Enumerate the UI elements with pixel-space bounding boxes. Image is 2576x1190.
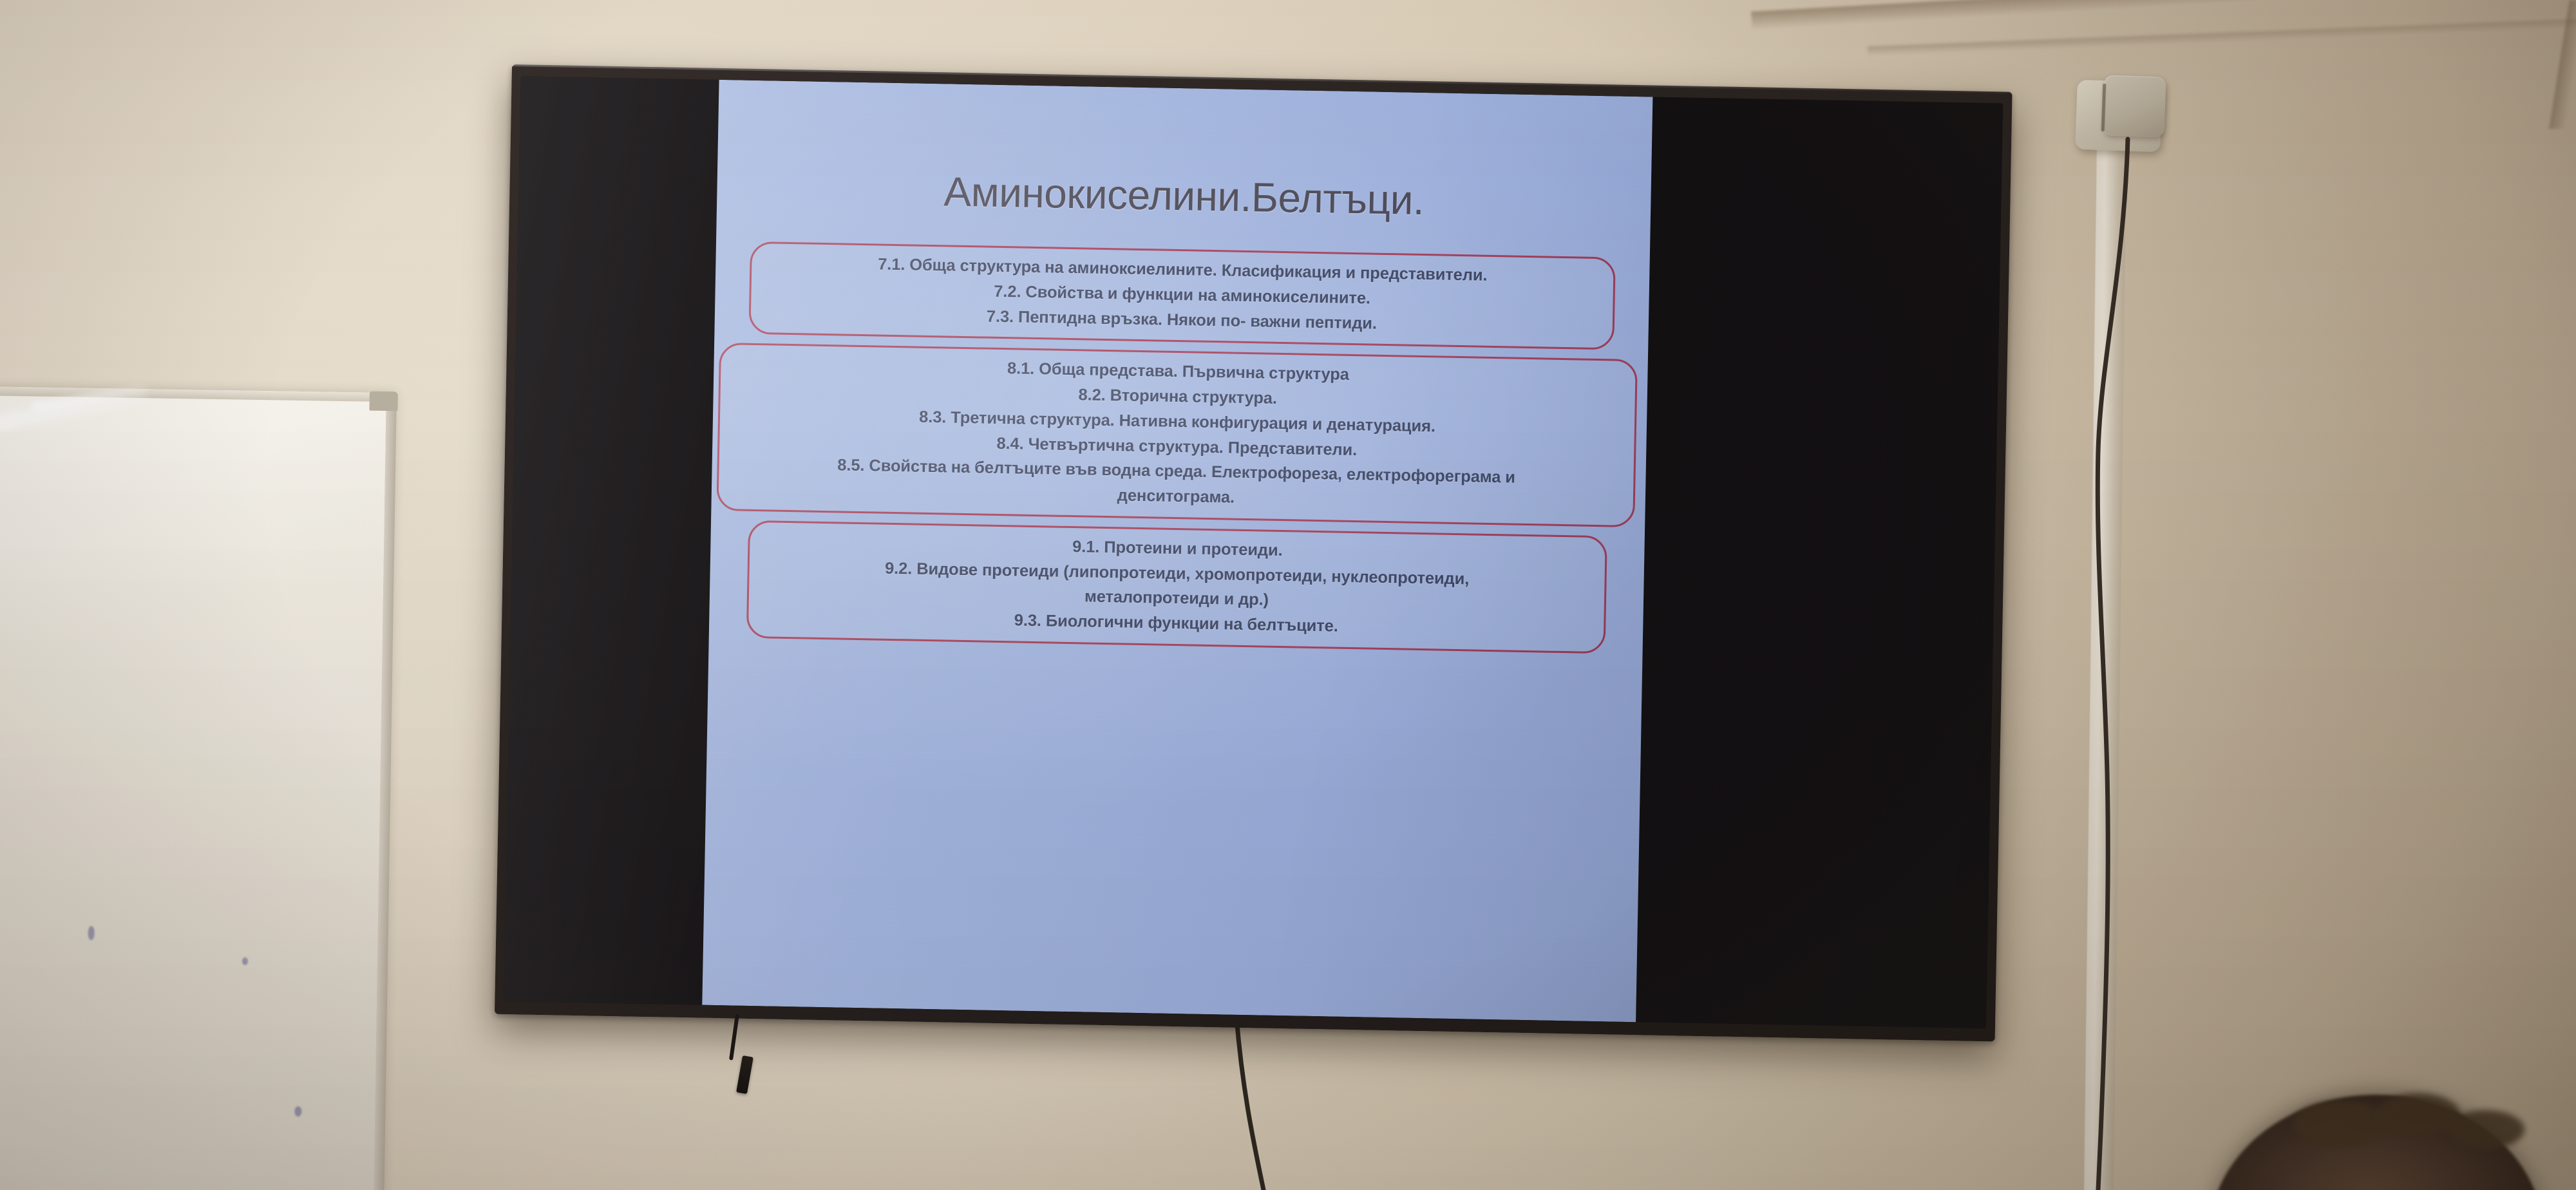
slide-topic-boxes: 7. Аминокиселини 7.1. Обща структура на …: [726, 241, 1631, 663]
slide-title: Аминокиселини.Белтъци.: [717, 164, 1651, 229]
whiteboard: [0, 386, 391, 1190]
person-hair-tuft: [2293, 1101, 2389, 1146]
wall-mounted-tv: Аминокиселини.Белтъци. 7. Аминокиселини …: [495, 64, 2012, 1041]
person-hair-tuft: [2447, 1110, 2524, 1149]
wall-socket-face[interactable]: [2102, 75, 2166, 137]
classroom-photo-scene: Аминокиселини.Белтъци. 7. Аминокиселини …: [0, 0, 2576, 1190]
whiteboard-marker-smudge: [242, 958, 248, 965]
topic-box-section-8: 8. Белтъци 8.1. Обща представа. Първична…: [716, 343, 1638, 527]
whiteboard-corner-cap: [369, 392, 397, 411]
topic-box-section-9: 9. Видове белтъци - класификация. Функци…: [746, 520, 1607, 654]
presentation-slide: Аминокиселини.Белтъци. 7. Аминокиселини …: [702, 80, 1653, 1022]
whiteboard-marker-smudge: [88, 926, 95, 940]
whiteboard-marker-smudge: [294, 1106, 301, 1117]
tv-screen-panel: Аминокиселини.Белтъци. 7. Аминокиселини …: [504, 76, 2003, 1028]
topic-box-section-7: 7. Аминокиселини 7.1. Обща структура на …: [748, 241, 1615, 350]
